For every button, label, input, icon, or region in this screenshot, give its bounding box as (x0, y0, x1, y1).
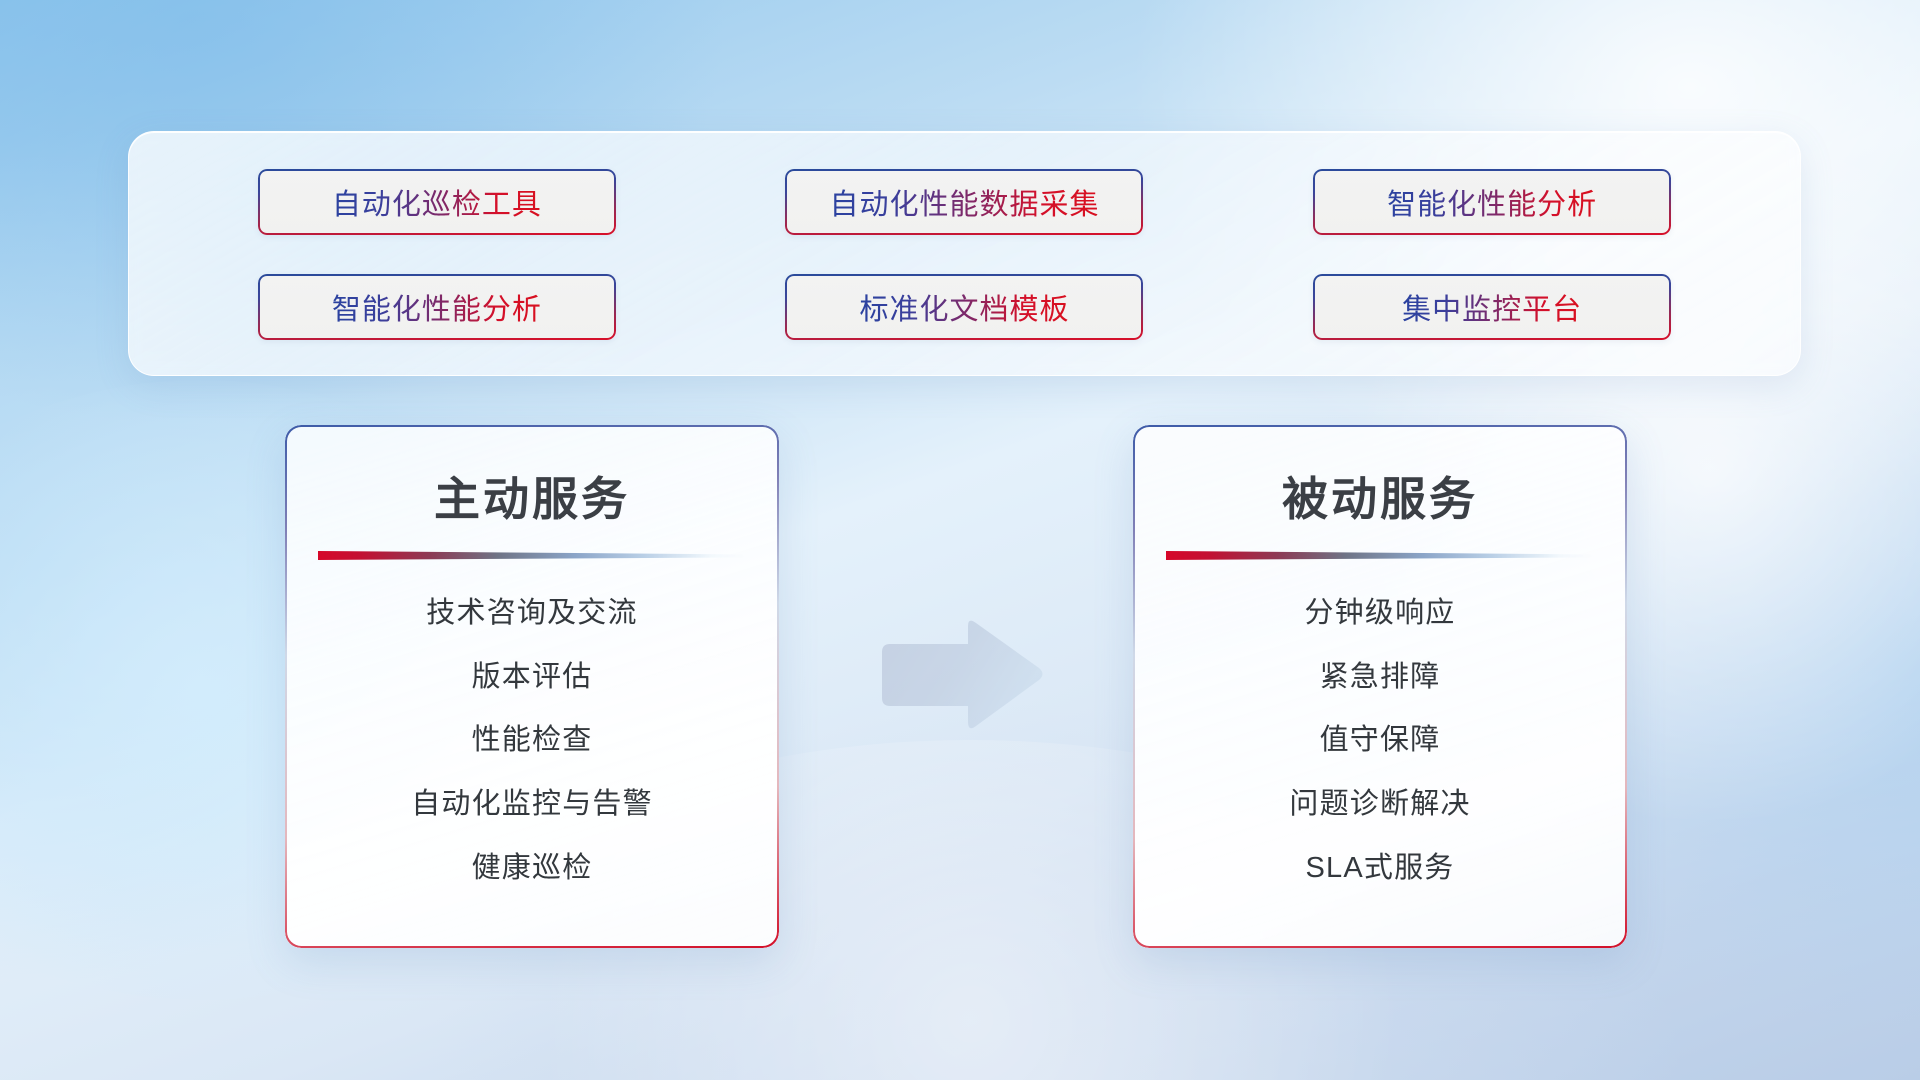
capability-pill-label: 集中监控平台 (1402, 286, 1582, 328)
capability-pill-4[interactable]: 智能化性能分析 (258, 274, 616, 340)
slide-canvas: 自动化巡检工具 自动化性能数据采集 智能化性能分析 智能化性能分析 标准化文档模… (0, 0, 1920, 1080)
capability-pill-label: 自动化性能数据采集 (829, 181, 1099, 223)
capability-pill-label: 智能化性能分析 (332, 286, 542, 328)
capability-pill-2[interactable]: 自动化性能数据采集 (785, 169, 1143, 235)
list-item: 分钟级响应 (1304, 595, 1455, 633)
capability-pill-label: 智能化性能分析 (1387, 181, 1597, 223)
list-item: 性能检查 (472, 722, 593, 760)
list-item: SLA式服务 (1305, 850, 1454, 888)
divider-line (318, 551, 746, 560)
list-item: 版本评估 (472, 659, 593, 697)
proactive-service-title: 主动服务 (285, 463, 779, 529)
proactive-title-divider (318, 551, 746, 561)
capability-pill-grid: 自动化巡检工具 自动化性能数据采集 智能化性能分析 智能化性能分析 标准化文档模… (129, 132, 1800, 375)
reactive-service-card: 被动服务 分钟级响应 紧急排障 值守保障 问题诊断解决 SLA式服务 (1133, 425, 1627, 948)
list-item: 值守保障 (1320, 722, 1441, 760)
proactive-service-list: 技术咨询及交流 版本评估 性能检查 自动化监控与告警 健康巡检 (285, 595, 779, 887)
right-arrow-icon (876, 616, 1046, 736)
reactive-service-title: 被动服务 (1133, 463, 1627, 529)
capability-pill-label: 自动化巡检工具 (332, 181, 542, 223)
proactive-service-card: 主动服务 技术咨询及交流 版本评估 性能检查 自动化监控与告警 健康巡检 (285, 425, 779, 948)
reactive-title-divider (1166, 551, 1594, 561)
capability-pill-6[interactable]: 集中监控平台 (1313, 274, 1671, 340)
list-item: 问题诊断解决 (1289, 786, 1470, 824)
list-item: 技术咨询及交流 (426, 595, 637, 633)
reactive-service-list: 分钟级响应 紧急排障 值守保障 问题诊断解决 SLA式服务 (1133, 595, 1627, 887)
list-item: 自动化监控与告警 (411, 786, 653, 824)
list-item: 紧急排障 (1320, 659, 1441, 697)
capability-pill-5[interactable]: 标准化文档模板 (785, 274, 1143, 340)
divider-line (1166, 551, 1594, 560)
capability-pill-1[interactable]: 自动化巡检工具 (258, 169, 616, 235)
capability-panel: 自动化巡检工具 自动化性能数据采集 智能化性能分析 智能化性能分析 标准化文档模… (128, 131, 1801, 376)
capability-pill-3[interactable]: 智能化性能分析 (1313, 169, 1671, 235)
list-item: 健康巡检 (472, 850, 593, 888)
capability-pill-label: 标准化文档模板 (859, 286, 1069, 328)
